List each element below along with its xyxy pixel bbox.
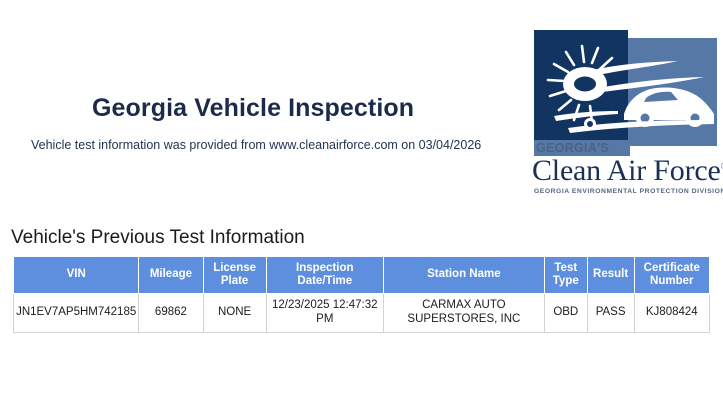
cell-station-name: CARMAX AUTO SUPERSTORES, INC: [383, 294, 544, 333]
logo-wordmark-text: Clean Air Force: [532, 154, 721, 187]
column-header-station-name: Station Name: [383, 257, 544, 294]
column-header-result: Result: [587, 257, 634, 294]
cell-certificate-number: KJ808424: [634, 294, 709, 333]
table-row: JN1EV7AP5HM742185 69862 NONE 12/23/2025 …: [14, 294, 710, 333]
page-subtitle: Vehicle test information was provided fr…: [31, 138, 481, 152]
cell-test-type: OBD: [544, 294, 587, 333]
column-header-mileage: Mileage: [139, 257, 203, 294]
column-header-test-type: Test Type: [544, 257, 587, 294]
cell-inspection-datetime: 12/23/2025 12:47:32 PM: [266, 294, 383, 333]
column-header-license-plate: License Plate: [203, 257, 266, 294]
cell-license-plate: NONE: [203, 294, 266, 333]
column-header-vin: VIN: [14, 257, 139, 294]
sun-and-car-icon: [528, 28, 720, 146]
previous-test-information-table: VIN Mileage License Plate Inspection Dat…: [13, 256, 710, 333]
clean-air-force-logo: GEORGIA'S Clean Air Force® GEORGIA ENVIR…: [528, 28, 720, 193]
logo-panels: [528, 28, 720, 146]
cell-mileage: 69862: [139, 294, 203, 333]
logo-georgias-text: GEORGIA'S: [536, 141, 609, 155]
page-title: Georgia Vehicle Inspection: [92, 94, 414, 123]
logo-division-text: GEORGIA ENVIRONMENTAL PROTECTION DIVISIO…: [534, 188, 723, 195]
logo-wordmark: Clean Air Force®: [532, 154, 723, 188]
cell-result: PASS: [587, 294, 634, 333]
column-header-inspection-datetime: Inspection Date/Time: [266, 257, 383, 294]
section-title: Vehicle's Previous Test Information: [11, 227, 305, 249]
cell-vin: JN1EV7AP5HM742185: [14, 294, 139, 333]
table-header-row: VIN Mileage License Plate Inspection Dat…: [14, 257, 710, 294]
column-header-certificate-number: Certificate Number: [634, 257, 709, 294]
